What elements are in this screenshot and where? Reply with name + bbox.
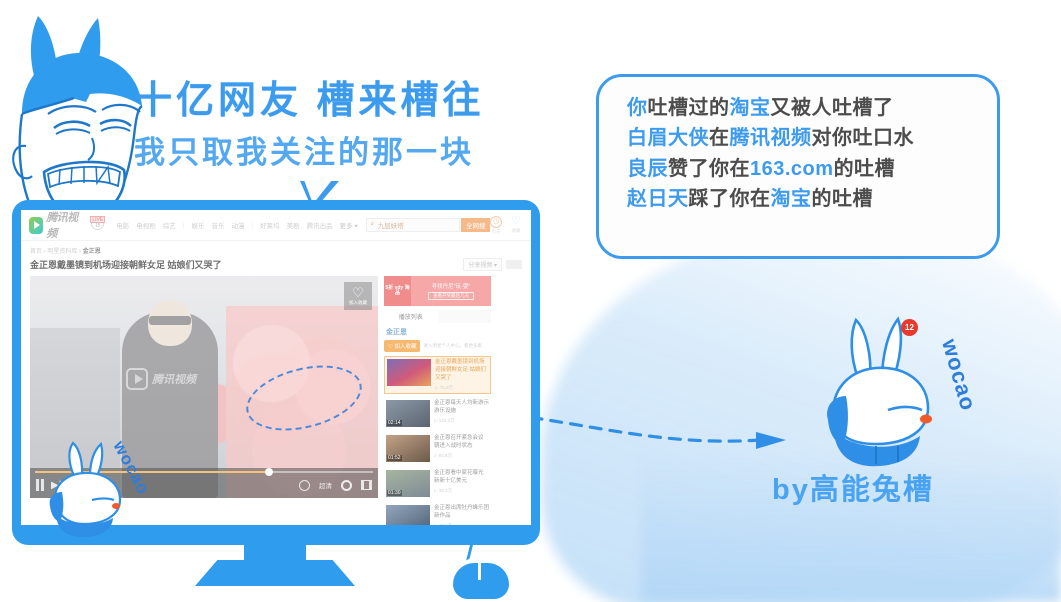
bubble-highlight: 淘宝 <box>771 188 812 210</box>
bubble-plain: 赞了你在 <box>668 158 750 180</box>
playlist-thumbnail: 01:30 <box>386 470 430 497</box>
bubble-plain: 又被人吐槽了 <box>771 97 894 119</box>
volume-icon[interactable] <box>299 480 310 491</box>
playlist-thumbnail: 02:14 <box>386 400 430 427</box>
nav-item-entertainment[interactable]: 娱乐 <box>191 220 204 230</box>
bubble-highlight: 赵日天 <box>627 188 689 210</box>
breadcrumb: 首页 › 明星资料库 › 金正恩 <box>21 241 531 255</box>
playlist-meta: 金正恩每天人均新游示游乐设施▷ 123.3万 <box>434 400 489 427</box>
ad-content: 寻找丹尼"玩·耍" 查看开奖最后几天 <box>411 276 491 306</box>
nav-item-tv[interactable]: 电视剧 <box>136 220 156 230</box>
header-icon-group: ◷ 历史 ♡ 收藏 <box>490 216 523 235</box>
bubble-highlight: 腾讯视频 <box>730 127 812 149</box>
history-button[interactable]: ◷ 历史 <box>490 216 502 235</box>
breadcrumb-item-star-db[interactable]: 明星资料库 <box>47 249 77 255</box>
headline-block: 十亿网友 槽来槽往 我只取我关注的那一块 <box>134 78 534 176</box>
playlist-item-views: ▷ 123.3万 <box>434 418 489 424</box>
nav-divider: | <box>251 222 253 229</box>
search-icon: ⌕ <box>367 221 378 229</box>
star-name: 金正恩 <box>384 323 491 340</box>
headline-line-2: 我只取我关注的那一块 <box>134 130 534 177</box>
playlist-item-title: 金正恩看中家花曝光 新新十亿美元 <box>434 470 489 486</box>
breadcrumb-item-current: 金正恩 <box>83 249 101 255</box>
nav-item-tencent-original[interactable]: 腾讯出品 <box>307 220 333 230</box>
ad-brand: 5折 vdy 淘品 <box>384 276 411 306</box>
controls-right: 超清 <box>299 480 372 491</box>
playlist-duration: 02:14 <box>387 420 402 426</box>
bubble-highlight: 163.com <box>750 158 834 180</box>
bubble-line: 白眉大侠在腾讯视频对你吐口水 <box>627 123 997 153</box>
primary-nav: 电影 电视剧 综艺 | 娱乐 音乐 动漫 | 好莱坞 美剧 腾讯出品 更多 ▾ <box>116 220 357 230</box>
play-logo-icon <box>29 217 43 234</box>
playlist-item[interactable]: 01:52金正恩召开紧急会议 朝进入战时状态▷ 84.8万 <box>384 433 491 464</box>
watermark-text: 腾讯视频 <box>152 371 196 387</box>
bubble-plain: 的吐槽 <box>834 158 896 180</box>
progress-knob[interactable] <box>265 468 273 476</box>
playlist-thumbnail <box>387 359 431 386</box>
player-favorite-button[interactable]: ♡ 加入收藏 <box>344 282 372 310</box>
tab-secondary[interactable] <box>438 310 492 323</box>
nav-item-anime[interactable]: 动漫 <box>231 220 244 230</box>
player-watermark: 腾讯视频 <box>126 368 196 390</box>
bubble-line: 赵日天踩了你在淘宝的吐槽 <box>627 184 997 214</box>
bubble-plain: 对你吐口水 <box>812 127 915 149</box>
heart-icon: ♡ <box>511 216 521 227</box>
nav-item-usdrama[interactable]: 美剧 <box>287 220 300 230</box>
subscribe-button[interactable]: ♡ 加入收藏 <box>384 340 420 352</box>
bubble-highlight: 白眉大侠 <box>627 127 709 149</box>
title-actions: 分享视频 ▾ <box>463 258 522 271</box>
playlist-item-title: 金正恩戴墨镜到机场迎接朝鲜女足 姑娘们又哭了 <box>435 359 488 383</box>
playlist-item-views: ▷ 49.0万 <box>434 523 489 525</box>
playlist-item-views: ▷ 84.8万 <box>434 453 489 459</box>
computer-mouse <box>453 563 509 599</box>
nav-item-variety[interactable]: 综艺 <box>163 220 176 230</box>
notification-speech-bubble: 你吐槽过的淘宝又被人吐槽了 白眉大侠在腾讯视频对你吐口水 良辰赞了你在163.c… <box>596 74 1000 259</box>
live-badge-top: LIVE <box>90 216 105 223</box>
watermark-play-icon <box>126 368 148 390</box>
playlist-duration: 01:52 <box>387 455 402 461</box>
playlist-item-views: ▷ 75.9万 <box>435 385 488 391</box>
quality-button[interactable]: 超清 <box>319 480 332 490</box>
nav-divider: | <box>183 222 185 229</box>
playlist-item[interactable]: 01:30金正恩看中家花曝光 新新十亿美元▷ 34.3万 <box>384 468 491 499</box>
playlist-meta: 金正恩出席牡丹峰乐团新作品▷ 49.0万 <box>434 505 489 525</box>
action-placeholder[interactable] <box>506 260 522 269</box>
nav-item-movie[interactable]: 电影 <box>116 220 129 230</box>
rail-tabs: 播放列表 <box>384 310 491 323</box>
bubble-plain: 吐槽过的 <box>648 97 730 119</box>
search-button[interactable]: 全网搜 <box>461 218 490 232</box>
bubble-highlight: 你 <box>627 97 648 119</box>
live-badge-bottom: 15 <box>91 223 104 230</box>
playlist-item[interactable]: 金正恩戴墨镜到机场迎接朝鲜女足 姑娘们又哭了▷ 75.9万 <box>384 356 491 394</box>
mouse-button-split <box>478 563 481 580</box>
playlist-meta: 金正恩看中家花曝光 新新十亿美元▷ 34.3万 <box>434 470 489 497</box>
subscribe-hint: 进入明星个人中心，看更多集 <box>423 343 482 349</box>
bubble-highlight: 良辰 <box>627 158 668 180</box>
monitor-stand-base <box>195 560 355 586</box>
video-title: 金正恩戴墨镜到机场迎接朝鲜女足 姑娘们又哭了 <box>30 258 222 271</box>
nav-item-hollywood[interactable]: 好莱坞 <box>260 220 280 230</box>
search-input[interactable]: 九层妖塔 <box>378 220 404 230</box>
playlist-duration: 01:30 <box>387 490 402 496</box>
playlist-item-title: 金正恩出席牡丹峰乐团新作品 <box>434 505 489 521</box>
tencent-video-logo[interactable]: 腾讯视频 <box>29 210 81 241</box>
history-icon: ◷ <box>490 216 502 228</box>
playlist-meta: 金正恩戴墨镜到机场迎接朝鲜女足 姑娘们又哭了▷ 75.9万 <box>435 359 488 391</box>
playlist-item-title: 金正恩召开紧急会议 朝进入战时状态 <box>434 435 489 451</box>
bubble-line: 你吐槽过的淘宝又被人吐槽了 <box>627 93 997 123</box>
live-badge[interactable]: LIVE 15 <box>90 216 105 234</box>
poster-canvas: 十亿网友 槽来槽往 我只取我关注的那一块 你吐槽过的淘宝又被人吐槽了 白眉大侠在… <box>0 0 1061 602</box>
history-label: 历史 <box>492 229 501 235</box>
ad-button[interactable]: 查看开奖最后几天 <box>428 292 474 300</box>
playlist-thumbnail: 02:38 <box>386 505 430 525</box>
right-rail: 5折 vdy 淘品 寻找丹尼"玩·耍" 查看开奖最后几天 播放列表 金正恩 ♡ … <box>384 276 491 525</box>
nav-item-music[interactable]: 音乐 <box>211 220 224 230</box>
playlist-item-views: ▷ 34.3万 <box>434 488 489 494</box>
playlist-thumbnail: 01:52 <box>386 435 430 462</box>
playlist: 金正恩戴墨镜到机场迎接朝鲜女足 姑娘们又哭了▷ 75.9万02:14金正恩每天人… <box>384 356 491 525</box>
playlist-item[interactable]: 02:14金正恩每天人均新游示游乐设施▷ 123.3万 <box>384 398 491 429</box>
player-favorite-label: 加入收藏 <box>349 300 367 306</box>
ad-banner[interactable]: 5折 vdy 淘品 寻找丹尼"玩·耍" 查看开奖最后几天 <box>384 276 491 306</box>
favorite-label: 收藏 <box>512 228 521 234</box>
playlist-meta: 金正恩召开紧急会议 朝进入战时状态▷ 84.8万 <box>434 435 489 462</box>
search-box[interactable]: ⌕ 九层妖塔 <box>366 218 461 232</box>
logo-text: 腾讯视频 <box>46 210 81 241</box>
bubble-plain: 的吐槽 <box>812 188 874 210</box>
notification-badge: 12 <box>901 319 918 336</box>
signature-text: by高能兔槽 <box>772 466 934 508</box>
ad-text: 寻找丹尼"玩·耍" <box>432 282 471 290</box>
headline-line-1: 十亿网友 槽来槽往 <box>134 78 534 126</box>
fullscreen-icon[interactable] <box>361 480 372 490</box>
bubble-plain: 在 <box>709 127 730 149</box>
playlist-item-title: 金正恩每天人均新游示游乐设施 <box>434 400 489 416</box>
bunny-mascot-left: wocao <box>40 440 150 540</box>
bubble-text-block: 你吐槽过的淘宝又被人吐槽了 白眉大侠在腾讯视频对你吐口水 良辰赞了你在163.c… <box>599 77 997 215</box>
star-subscribe-row: ♡ 加入收藏 进入明星个人中心，看更多集 <box>384 340 491 356</box>
breadcrumb-item-home[interactable]: 首页 <box>30 249 42 255</box>
bubble-line: 良辰赞了你在163.com的吐槽 <box>627 154 997 184</box>
bubble-plain: 踩了你在 <box>689 188 771 210</box>
nav-item-more[interactable]: 更多 ▾ <box>340 220 358 230</box>
gear-icon[interactable] <box>341 480 352 491</box>
tab-playlist[interactable]: 播放列表 <box>384 310 438 323</box>
playlist-item[interactable]: 02:38金正恩出席牡丹峰乐团新作品▷ 49.0万 <box>384 503 491 525</box>
heart-icon: ♡ <box>352 287 364 299</box>
video-title-row: 金正恩戴墨镜到机场迎接朝鲜女足 姑娘们又哭了 分享视频 ▾ <box>21 255 531 276</box>
favorite-button[interactable]: ♡ 收藏 <box>511 216 521 235</box>
share-select[interactable]: 分享视频 ▾ <box>463 258 502 271</box>
bunny-mascot-right: 12 wocao <box>822 312 972 472</box>
site-header: 腾讯视频 LIVE 15 电影 电视剧 综艺 | 娱乐 音乐 动漫 | 好莱坞 … <box>21 210 531 241</box>
bubble-highlight: 淘宝 <box>730 97 771 119</box>
